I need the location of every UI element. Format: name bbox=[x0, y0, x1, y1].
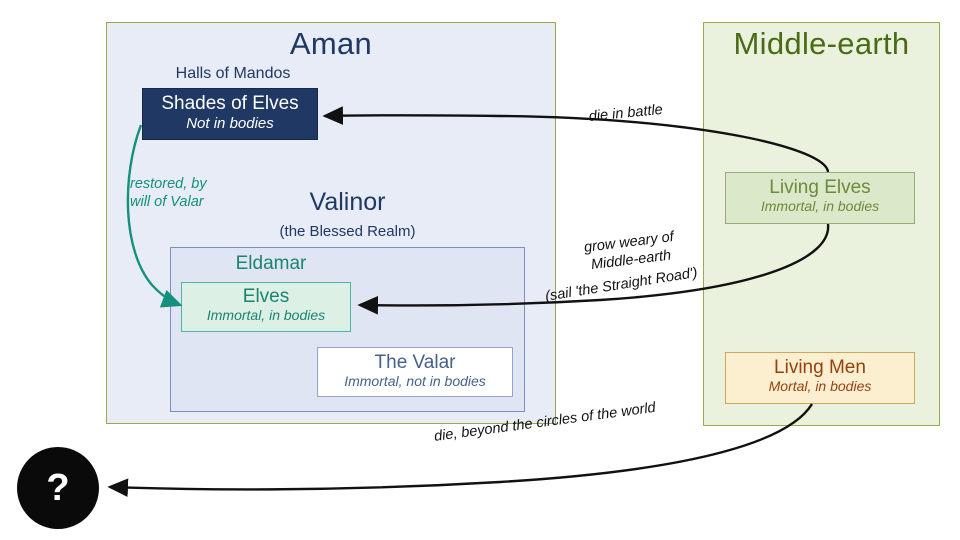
elves-box[interactable]: Elves Immortal, in bodies bbox=[181, 282, 351, 332]
elves-title: Elves bbox=[182, 287, 350, 307]
unknown-fate-circle: ? bbox=[17, 447, 99, 529]
shades-of-elves-subtitle: Not in bodies bbox=[143, 116, 317, 133]
valar-subtitle: Immortal, not in bodies bbox=[318, 374, 512, 389]
diagram-canvas: Aman Halls of Mandos Shades of Elves Not… bbox=[0, 0, 960, 540]
arrow-label-restored-line2: will of Valar bbox=[130, 193, 240, 211]
arrow-label-restored-line1: restored, by bbox=[130, 175, 240, 193]
halls-of-mandos-label: Halls of Mandos bbox=[142, 65, 324, 83]
eldamar-label: Eldamar bbox=[181, 253, 361, 275]
question-mark-icon: ? bbox=[17, 447, 99, 529]
living-elves-box[interactable]: Living Elves Immortal, in bodies bbox=[725, 172, 915, 224]
valar-title: The Valar bbox=[318, 353, 512, 373]
valar-box[interactable]: The Valar Immortal, not in bodies bbox=[317, 347, 513, 397]
elves-subtitle: Immortal, in bodies bbox=[182, 308, 350, 323]
living-men-subtitle: Mortal, in bodies bbox=[726, 379, 914, 394]
shades-of-elves-title: Shades of Elves bbox=[143, 94, 317, 114]
arrow-label-restored: restored, by will of Valar bbox=[130, 175, 240, 211]
living-men-title: Living Men bbox=[726, 358, 914, 378]
valinor-subtitle: (the Blessed Realm) bbox=[170, 223, 525, 240]
middle-earth-title: Middle-earth bbox=[703, 26, 940, 62]
living-elves-subtitle: Immortal, in bodies bbox=[726, 199, 914, 214]
living-men-box[interactable]: Living Men Mortal, in bodies bbox=[725, 352, 915, 404]
arrow-label-die-in-battle: die in battle bbox=[588, 101, 664, 126]
aman-title: Aman bbox=[106, 26, 556, 62]
shades-of-elves-box[interactable]: Shades of Elves Not in bodies bbox=[142, 88, 318, 140]
living-elves-title: Living Elves bbox=[726, 178, 914, 198]
arrow-label-grow-weary: grow weary of Middle-earth bbox=[583, 228, 677, 275]
